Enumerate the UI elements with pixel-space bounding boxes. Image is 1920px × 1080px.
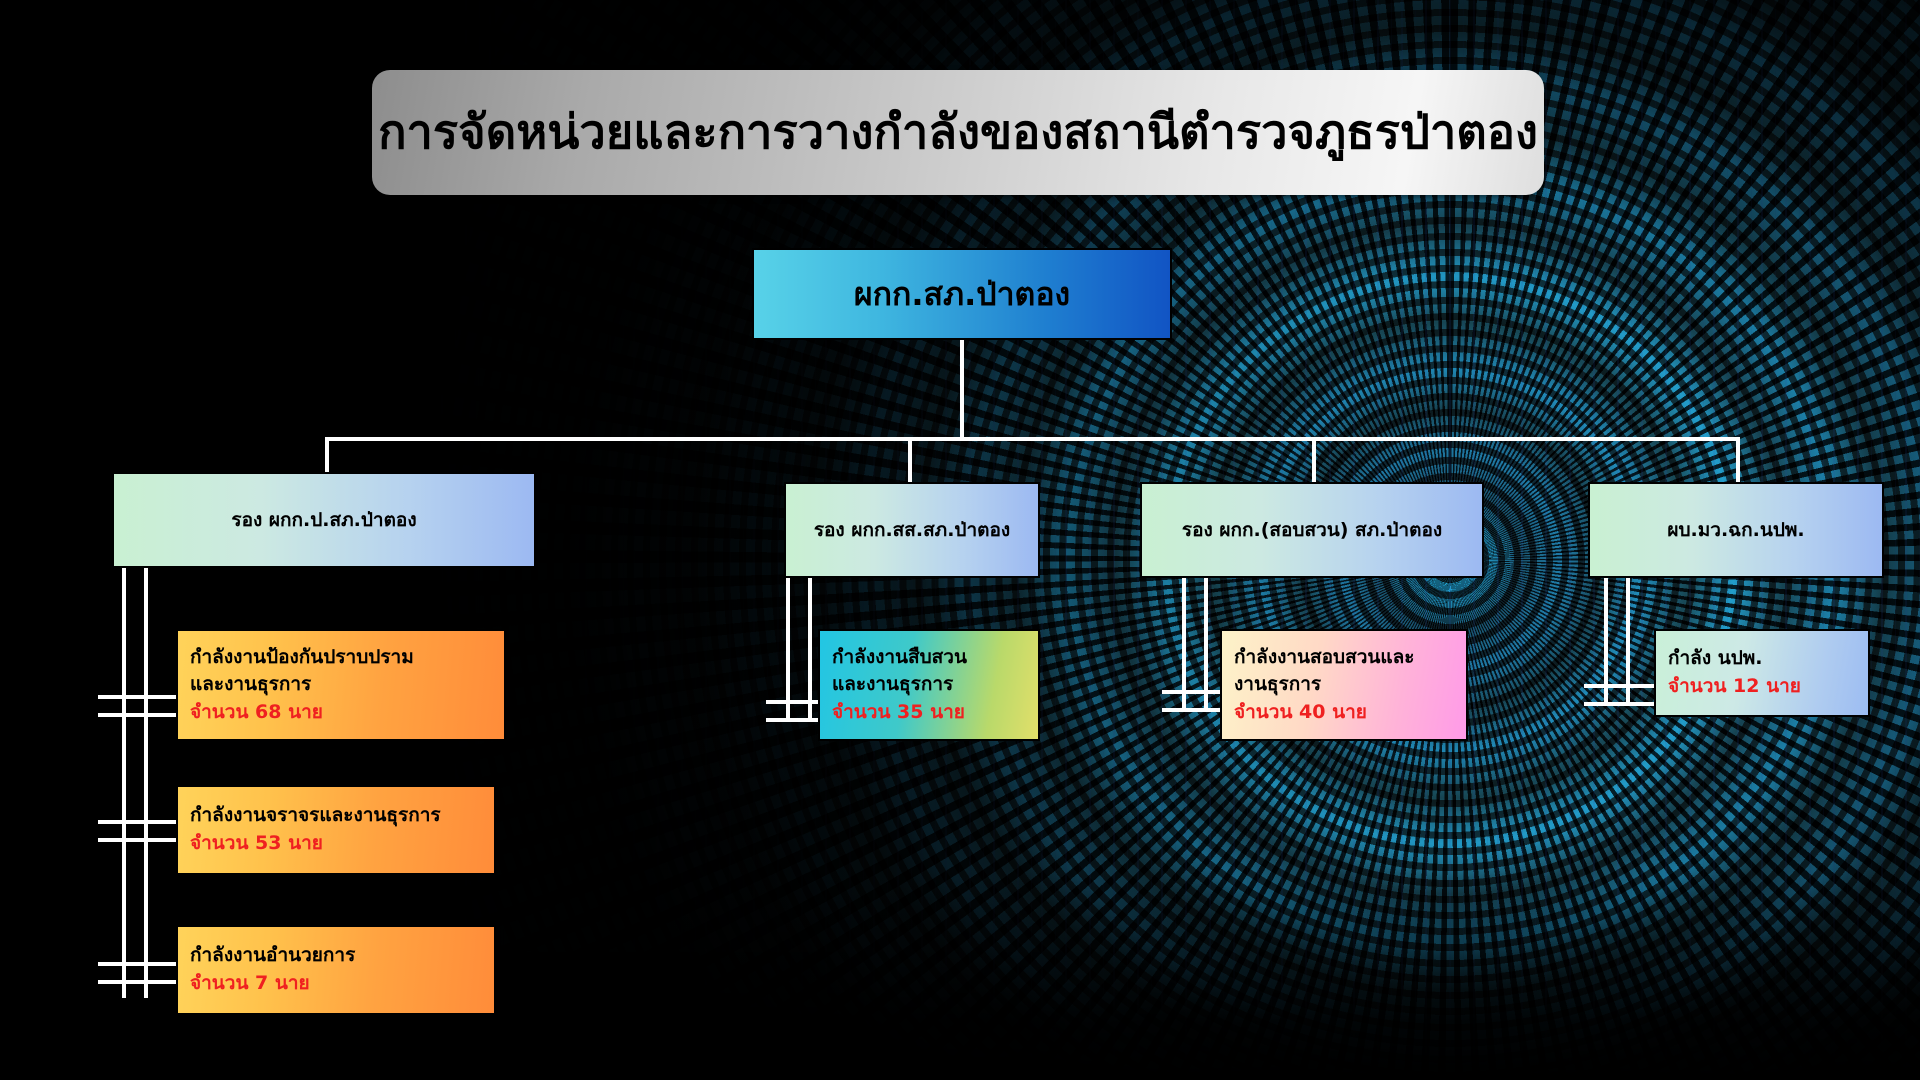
unit-label-line1: กำลังงานป้องกันปราบปราม <box>190 644 414 672</box>
node-unit-special-force[interactable]: กำลัง นปพ. จำนวน 12 นาย <box>1654 629 1870 717</box>
node-branch-3-label: รอง ผกก.(สอบสวน) สภ.ป่าตอง <box>1182 515 1442 545</box>
connector-drop-branch-1 <box>325 437 329 475</box>
node-branch-2-label: รอง ผกก.สส.สภ.ป่าตอง <box>814 515 1010 545</box>
node-branch-1-label: รอง ผกก.ป.สภ.ป่าตอง <box>231 505 416 535</box>
unit-headcount: จำนวน 12 นาย <box>1668 673 1801 701</box>
node-root-label: ผกก.สภ.ป่าตอง <box>854 269 1070 320</box>
node-branch-investigation[interactable]: รอง ผกก.สส.สภ.ป่าตอง <box>784 482 1040 578</box>
unit-label-line1: กำลังงานอำนวยการ <box>190 942 355 970</box>
connector-rail-branch-1 <box>122 568 148 998</box>
slide-canvas: การจัดหน่วยและการวางกำลังของสถานีตำรวจภู… <box>0 0 1920 1080</box>
unit-label-line1: กำลัง นปพ. <box>1668 645 1763 673</box>
slide-title-plaque: การจัดหน่วยและการวางกำลังของสถานีตำรวจภู… <box>372 70 1544 195</box>
unit-label-line1: กำลังงานจราจรและงานธุรการ <box>190 802 441 830</box>
unit-label-line2: และงานธุรการ <box>190 671 311 699</box>
unit-label-line2: งานธุรการ <box>1234 671 1321 699</box>
unit-label-line2: และงานธุรการ <box>832 671 953 699</box>
connector-drop-branch-4 <box>1736 437 1740 485</box>
unit-headcount: จำนวน 53 นาย <box>190 830 323 858</box>
connector-drop-branch-2 <box>908 437 912 485</box>
connector-drop-branch-3 <box>1312 437 1316 485</box>
node-unit-prevention-suppression[interactable]: กำลังงานป้องกันปราบปราม และงานธุรการ จำน… <box>176 629 506 741</box>
unit-label-line1: กำลังงานสืบสวน <box>832 644 967 672</box>
connector-root-stem <box>960 340 964 440</box>
node-unit-traffic[interactable]: กำลังงานจราจรและงานธุรการ จำนวน 53 นาย <box>176 785 496 875</box>
connector-rail-branch-2 <box>786 578 812 720</box>
connector-main-bus <box>325 437 1740 441</box>
unit-label-line1: กำลังงานสอบสวนและ <box>1234 644 1414 672</box>
unit-headcount: จำนวน 35 นาย <box>832 699 965 727</box>
unit-headcount: จำนวน 7 นาย <box>190 970 310 998</box>
node-branch-prevention[interactable]: รอง ผกก.ป.สภ.ป่าตอง <box>112 472 536 568</box>
page-title: การจัดหน่วยและการวางกำลังของสถานีตำรวจภู… <box>378 109 1538 156</box>
node-unit-inquiry[interactable]: กำลังงานสอบสวนและ งานธุรการ จำนวน 40 นาย <box>1220 629 1468 741</box>
node-unit-investigation[interactable]: กำลังงานสืบสวน และงานธุรการ จำนวน 35 นาย <box>818 629 1040 741</box>
connector-stub-unit-4-1 <box>1584 684 1664 706</box>
node-branch-special-unit[interactable]: ผบ.มว.ฉก.นปพ. <box>1588 482 1884 578</box>
node-branch-inquiry[interactable]: รอง ผกก.(สอบสวน) สภ.ป่าตอง <box>1140 482 1484 578</box>
node-unit-administration[interactable]: กำลังงานอำนวยการ จำนวน 7 นาย <box>176 925 496 1015</box>
unit-headcount: จำนวน 40 นาย <box>1234 699 1367 727</box>
unit-headcount: จำนวน 68 นาย <box>190 699 323 727</box>
node-root-commander[interactable]: ผกก.สภ.ป่าตอง <box>752 248 1172 340</box>
node-branch-4-label: ผบ.มว.ฉก.นปพ. <box>1667 515 1804 545</box>
